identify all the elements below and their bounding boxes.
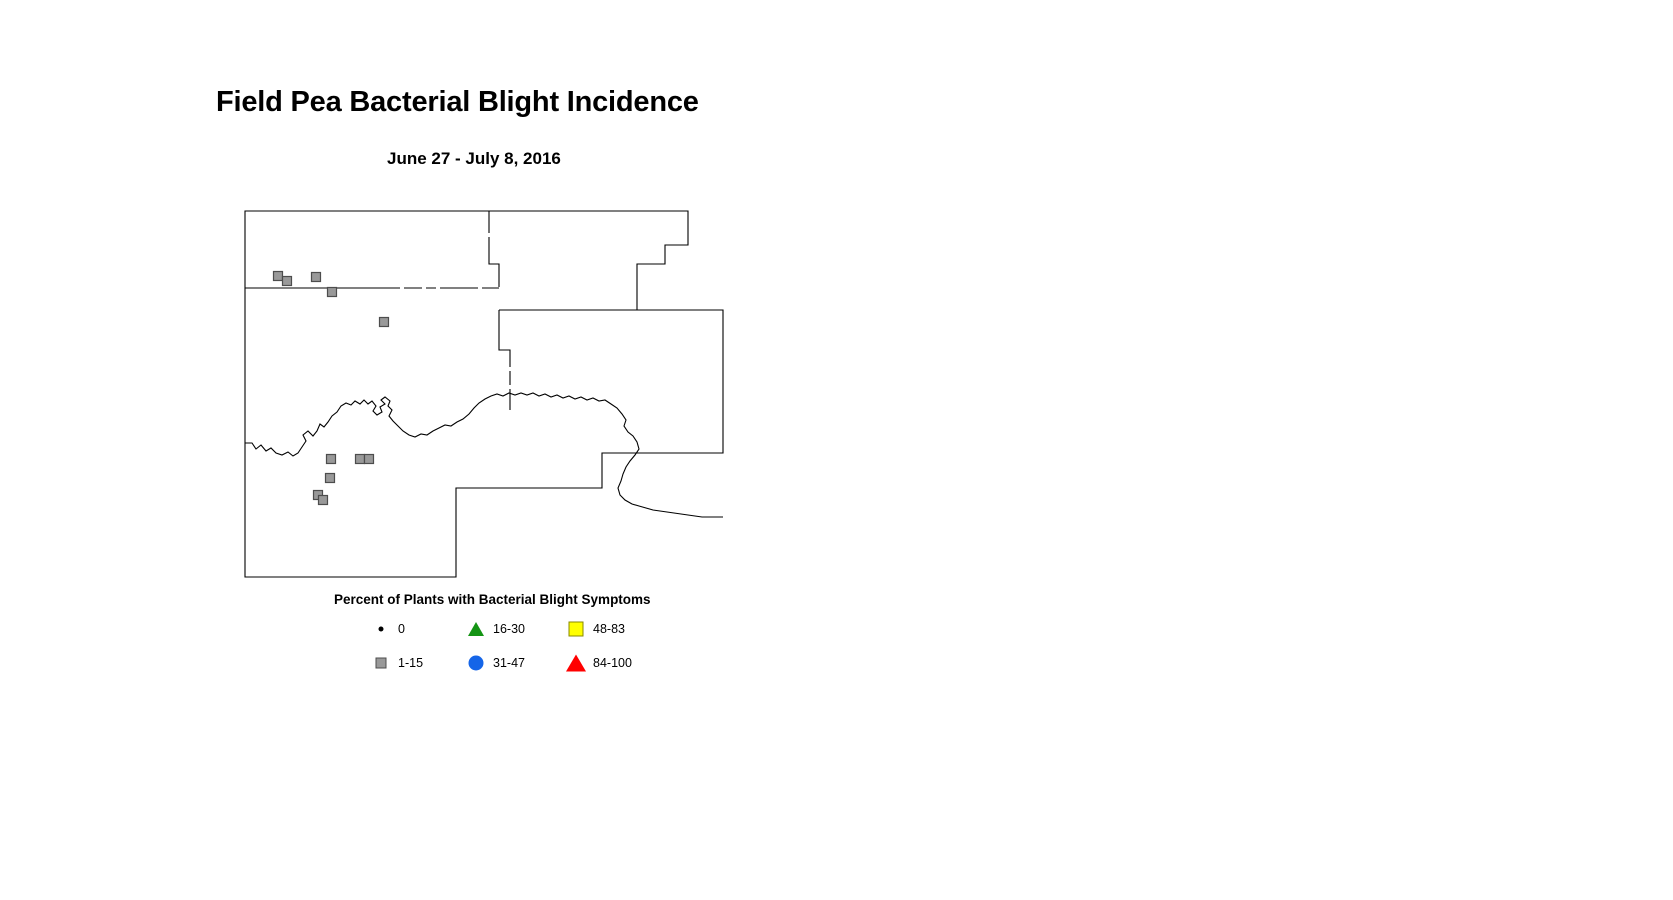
legend-item-0: 0 xyxy=(370,618,405,640)
legend-symbol-circle-blue-icon xyxy=(465,652,487,674)
data-point-marker xyxy=(365,455,374,464)
page-subtitle: June 27 - July 8, 2016 xyxy=(387,150,561,167)
legend-item-4: 48-83 xyxy=(565,618,625,640)
map-legend: Percent of Plants with Bacterial Blight … xyxy=(330,590,730,690)
data-point-marker xyxy=(319,496,328,505)
map-panel xyxy=(240,205,735,585)
county-map xyxy=(240,205,735,585)
legend-item-5: 84-100 xyxy=(565,652,632,674)
figure-root: Field Pea Bacterial Blight Incidence Jun… xyxy=(0,0,1673,900)
data-point-marker xyxy=(312,273,321,282)
data-point-marker xyxy=(356,455,365,464)
data-point-marker xyxy=(274,272,283,281)
legend-title: Percent of Plants with Bacterial Blight … xyxy=(334,593,651,607)
data-point-marker xyxy=(328,288,337,297)
map-boundaries xyxy=(245,211,723,577)
legend-label: 1-15 xyxy=(398,657,423,670)
data-point-marker xyxy=(326,474,335,483)
legend-label: 31-47 xyxy=(493,657,525,670)
legend-item-2: 16-30 xyxy=(465,618,525,640)
data-point-marker xyxy=(327,455,336,464)
data-point-marker xyxy=(380,318,389,327)
region-outline xyxy=(245,211,723,577)
legend-label: 84-100 xyxy=(593,657,632,670)
legend-symbol-square-yellow-icon xyxy=(565,618,587,640)
legend-symbol-triangle-green-icon xyxy=(465,618,487,640)
county-line-north-vertical-b xyxy=(489,237,499,287)
legend-symbol-dot-icon xyxy=(370,618,392,640)
page-title: Field Pea Bacterial Blight Incidence xyxy=(216,88,699,117)
legend-label: 16-30 xyxy=(493,623,525,636)
legend-symbol-triangle-red-icon xyxy=(565,652,587,674)
data-point-marker xyxy=(283,277,292,286)
legend-label: 0 xyxy=(398,623,405,636)
legend-item-1: 1-15 xyxy=(370,652,423,674)
legend-symbol-square-gray-icon xyxy=(370,652,392,674)
data-point-markers xyxy=(274,272,389,505)
legend-item-3: 31-47 xyxy=(465,652,525,674)
legend-label: 48-83 xyxy=(593,623,625,636)
